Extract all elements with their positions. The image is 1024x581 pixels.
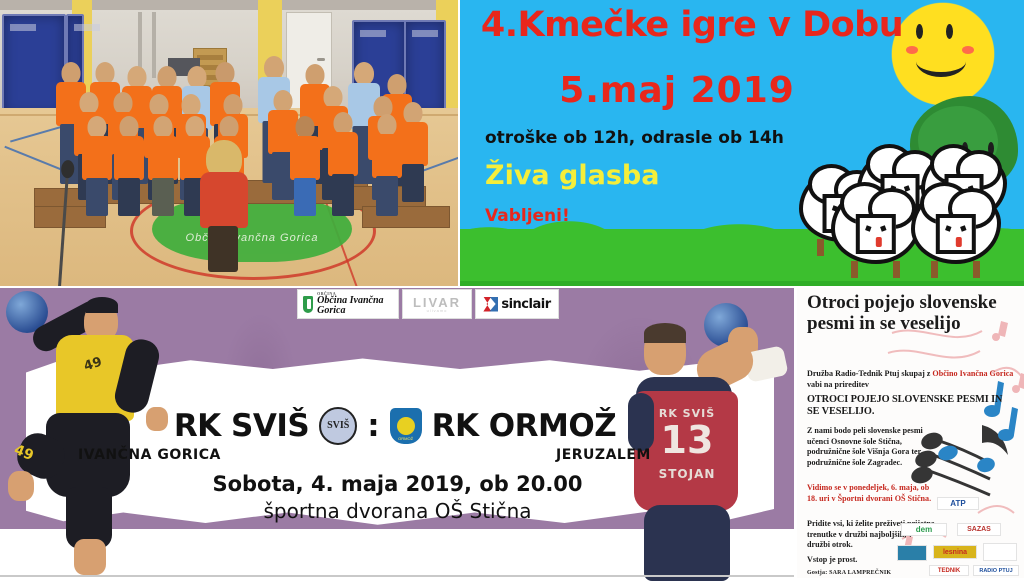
gym-choir-photo: Občina Ivančna Gorica xyxy=(0,0,459,287)
article-sponsor-shield xyxy=(897,545,927,561)
poster-invite: Vabljeni! xyxy=(485,206,570,226)
choir-child xyxy=(114,116,144,216)
article-body-1: Z nami bodo peli slovenske pesmi učenci … xyxy=(807,426,935,469)
away-crest-disc xyxy=(397,417,415,435)
away-team-crest: ORMOŽ xyxy=(390,408,422,444)
score-separator: : xyxy=(367,408,379,444)
sponsor-logo-livar: LIVAR ulivamo xyxy=(402,289,472,319)
sponsor-logo-sinclair: sinclair xyxy=(475,289,559,319)
article-sponsor-atp: ATP xyxy=(937,497,979,510)
choir-child xyxy=(290,116,320,216)
sponsor-logo-obcina: OBČINA Občina Ivančna Gorica xyxy=(297,289,399,319)
sinclair-mark-icon xyxy=(483,297,498,312)
article-lead-suffix: vabi na prireditev xyxy=(807,380,869,389)
sheep-icon xyxy=(831,188,921,264)
away-crest-label: ORMOŽ xyxy=(390,436,422,441)
article-event-title: OTROCI POJEJO SLOVENSKE PESMI IN SE VESE… xyxy=(807,394,1012,419)
article-sponsor-blank xyxy=(983,543,1017,561)
article-sponsor-tednik: TEDNIK xyxy=(929,565,969,576)
poster-times: otroške ob 12h, odrasle ob 14h xyxy=(485,128,784,148)
article-lead-prefix: Družba Radio-Tednik Ptuj skupaj z xyxy=(807,369,932,378)
article-sponsor-radio-ptuj: RADIO PTUJ xyxy=(973,565,1019,576)
gym-floor-logo-text: Občina Ivančna Gorica xyxy=(152,232,352,244)
poster-live-music: Živa glasba xyxy=(485,160,659,191)
poster-title: 4.Kmečke igre v Dobu xyxy=(477,8,907,43)
choir-child xyxy=(82,116,112,216)
match-datetime: Sobota, 4. maja 2019, ob 20.00 xyxy=(0,472,795,496)
home-crest-letters: SVIŠ xyxy=(327,422,349,431)
home-team-city: IVANČNA GORICA xyxy=(78,447,221,463)
panel-seam-vertical-top xyxy=(458,0,460,287)
sponsor-obcina-name: Občina Ivančna Gorica xyxy=(317,295,383,316)
sheep-icon xyxy=(911,188,1001,264)
choir-child xyxy=(372,114,402,216)
choir-child xyxy=(328,112,358,216)
choir-conductor xyxy=(196,140,252,270)
article-body-highlight: Vidimo se v ponedeljek, 6. maja, ob 18. … xyxy=(807,483,935,504)
sun-face xyxy=(900,12,982,90)
choir-child xyxy=(148,116,178,216)
article-guest-line: Gostja: SARA LAMPREČNIK xyxy=(807,570,943,578)
away-team-name: RK ORMOŽ xyxy=(432,408,617,444)
match-venue: športna dvorana OŠ Stična xyxy=(0,499,795,523)
handball-match-banner: OBČINA Občina Ivančna Gorica LIVAR uliva… xyxy=(0,287,795,581)
article-sponsor-dem: dem xyxy=(901,523,947,536)
panel-seam-vertical-bottom xyxy=(794,287,796,581)
article-lead-highlight: Občino Ivančna Gorica xyxy=(932,369,1013,378)
article-sponsor-sazas: SAZAS xyxy=(957,523,1001,536)
banner-sponsor-row: OBČINA Občina Ivančna Gorica LIVAR uliva… xyxy=(297,289,559,319)
poster-date: 5.maj 2019 xyxy=(477,70,877,111)
newspaper-article: Otroci pojejo slovenske pesmi in se vese… xyxy=(795,287,1024,581)
away-team-city: JERUZALEM xyxy=(556,447,651,463)
choir-child xyxy=(398,102,428,202)
article-sponsor-lesnina: lesnina xyxy=(933,545,977,559)
sponsor-sinclair-name: sinclair xyxy=(501,297,550,312)
gym-ceiling-strip xyxy=(0,0,459,10)
article-lead: Družba Radio-Tednik Ptuj skupaj z Občino… xyxy=(807,369,1015,390)
home-team-crest: SVIŠ xyxy=(319,407,357,445)
kmecke-igre-poster: 4.Kmečke igre v Dobu 5.maj 2019 otroške … xyxy=(459,0,1024,287)
home-team-name: RK SVIŠ xyxy=(174,408,309,444)
match-teams-line: RK SVIŠ SVIŠ : ORMOŽ RK ORMOŽ xyxy=(70,407,720,445)
article-headline: Otroci pojejo slovenske pesmi in se vese… xyxy=(807,293,1007,334)
panel-seam-horizontal xyxy=(0,286,1024,288)
banner-bottom-rule xyxy=(0,575,795,577)
screenshot-root: Občina Ivančna Gorica xyxy=(0,0,1024,581)
shield-icon xyxy=(303,296,313,313)
